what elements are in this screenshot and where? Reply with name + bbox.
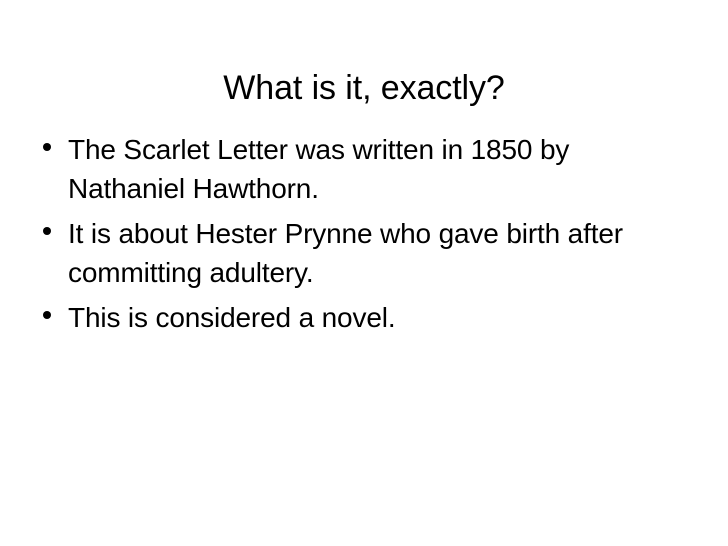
presentation-slide: What is it, exactly? The Scarlet Letter …: [0, 0, 728, 546]
bullet-dot-icon: [43, 311, 51, 319]
bullet-item-text: It is about Hester Prynne who gave birth…: [68, 214, 696, 292]
bullet-dot-icon: [43, 227, 51, 235]
slide-title: What is it, exactly?: [0, 67, 728, 109]
bullet-list: The Scarlet Letter was written in 1850 b…: [36, 130, 696, 337]
bullet-item: It is about Hester Prynne who gave birth…: [36, 214, 696, 292]
bullet-dot-icon: [43, 143, 51, 151]
bullet-item: The Scarlet Letter was written in 1850 b…: [36, 130, 696, 208]
bullet-item-text: This is considered a novel.: [68, 298, 696, 337]
slide-body: The Scarlet Letter was written in 1850 b…: [36, 130, 696, 337]
bullet-item: This is considered a novel.: [36, 298, 696, 337]
bullet-item-text: The Scarlet Letter was written in 1850 b…: [68, 130, 658, 208]
